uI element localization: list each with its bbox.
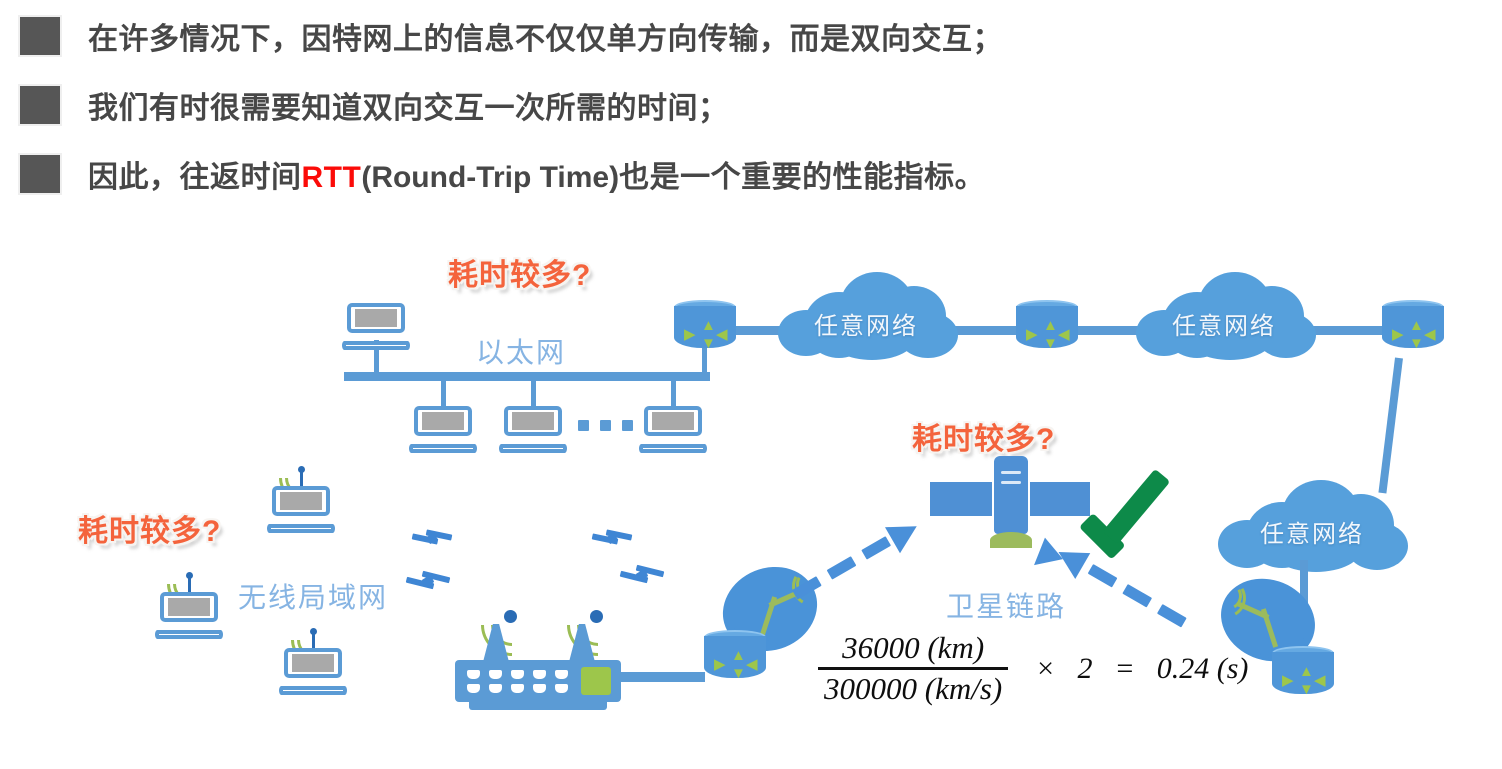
wireless-laptop-2 [152,558,226,642]
hot-label-ethernet: 耗时较多? [448,250,591,294]
laptop-lid [504,406,562,436]
bullet-item-3-label: 因此，往返时间RTT(Round-Trip Time)也是一个重要的性能指标。 [88,152,985,196]
ethernet-drop [671,378,676,408]
formula-denominator: 300000 (km/s) [818,670,1008,707]
antenna-signal-icon [557,588,637,640]
bullet-square-icon [20,86,60,124]
satellite-body [994,456,1028,534]
laptop-screen [280,492,322,510]
router-icon: ▲ ▼ ▶ ◀ [674,300,736,354]
bullet-item-2-label: 我们有时很需要知道双向交互一次所需的时间； [88,83,729,127]
rtt-formula: 36000 (km) 300000 (km/s) × 2 = 0.24 (s) [818,630,1259,707]
slide-canvas: 在许多情况下，因特网上的信息不仅仅单方向传输，而是双向交互； 我们有时很需要知道… [0,0,1502,769]
laptop-screen [168,598,210,616]
bullet-item-2: 我们有时很需要知道双向交互一次所需的时间； [20,83,729,127]
router-arrow-right-icon: ▶ [1026,327,1038,342]
router-arrow-down-icon: ▼ [1043,336,1058,351]
router-arrow-left-icon: ◀ [1058,327,1070,342]
router-arrow-down-icon: ▼ [731,666,746,681]
laptop-icon [284,648,342,695]
bullet-3-prefix: 因此，往返时间 [88,161,302,194]
lightning-bolt-icon [406,570,452,598]
laptop-screen [512,412,554,430]
satellite-solar-panel-right [1030,482,1090,516]
network-diagram: 耗时较多? 以太网 [0,228,1502,769]
laptop-icon [272,486,330,533]
router-arrow-up-icon: ▲ [1409,318,1424,333]
cloud-bottom-right: 任意网络 [1218,478,1414,574]
laptop-screen [422,412,464,430]
satellite-antenna-dish [990,532,1032,548]
router-arrow-left-icon: ◀ [1314,673,1326,688]
rtt-highlight: RTT [302,161,362,194]
bullet-square-icon [20,17,60,55]
cloud-top-left-label: 任意网络 [814,306,918,341]
router-arrow-left-icon: ◀ [716,327,728,342]
laptop-icon [160,592,218,639]
cloud-top-right: 任意网络 [1136,270,1322,362]
router-arrow-down-icon: ▼ [1409,336,1424,351]
link-router-to-bottom-cloud [1378,358,1403,494]
laptop-base [499,444,566,453]
lightning-bolt-icon [592,528,634,554]
label-ethernet: 以太网 [476,331,566,371]
laptop-base [639,444,706,453]
bullet-item-3: 因此，往返时间RTT(Round-Trip Time)也是一个重要的性能指标。 [20,152,985,196]
wireless-laptop-1 [264,452,338,536]
router-icon: ▲ ▼ ▶ ◀ [1382,300,1444,354]
cloud-top-left: 任意网络 [778,270,964,362]
laptop-lid [414,406,472,436]
router-arrow-left-icon: ◀ [1424,327,1436,342]
laptop-icon [414,406,472,453]
router-arrow-down-icon: ▼ [701,336,716,351]
dish-signal-icon [1204,582,1244,622]
laptop-lid [644,406,702,436]
antenna-signal-icon [166,558,212,592]
lightning-bolt-icon [412,528,454,554]
formula-numerator: 36000 (km) [836,630,990,667]
laptop-screen [292,654,334,672]
bullet-3-suffix: 也是一个重要的性能指标。 [619,161,985,194]
antenna-signal-icon [290,614,336,648]
link-router-to-cloud [1078,326,1144,335]
router-arrow-up-icon: ▲ [1299,664,1314,679]
switch-chassis [455,660,621,702]
cloud-bottom-right-label: 任意网络 [1260,514,1364,549]
laptop-icon [644,406,702,453]
satellite-solar-panel-left [930,482,992,516]
ethernet-drop [441,378,446,408]
router-arrow-left-icon: ◀ [746,657,758,672]
router-arrow-up-icon: ▲ [731,648,746,663]
checkmark-icon [1082,466,1186,554]
bullet-square-icon [20,155,60,193]
switch-status-icon [581,667,611,695]
laptop-screen [355,309,397,327]
formula-factor: 2 [1077,652,1092,686]
satellite-icon [930,456,1090,550]
antenna-signal-icon [278,452,324,486]
hot-label-wlan: 耗时较多? [78,506,221,550]
router-arrow-right-icon: ▶ [1282,673,1294,688]
laptop-icon [504,406,562,453]
laptop-lid [347,303,405,333]
cloud-top-right-label: 任意网络 [1172,306,1276,341]
bullet-3-middle: (Round-Trip Time) [361,161,619,194]
ethernet-bus [344,372,710,381]
router-icon: ▲ ▼ ▶ ◀ [1272,646,1334,700]
laptop-lid [284,648,342,678]
laptop-lid [272,486,330,516]
bullet-item-1: 在许多情况下，因特网上的信息不仅仅单方向传输，而是双向交互； [20,14,1003,58]
bullet-item-1-label: 在许多情况下，因特网上的信息不仅仅单方向传输，而是双向交互； [88,14,1003,58]
hot-label-satellite: 耗时较多? [912,414,1055,458]
router-icon: ▲ ▼ ▶ ◀ [704,630,766,684]
router-arrow-up-icon: ▲ [1043,318,1058,333]
laptop-base [409,444,476,453]
formula-times-operator: × [1035,652,1055,686]
router-arrow-right-icon: ▶ [684,327,696,342]
link-switch-to-router [621,672,705,682]
router-icon: ▲ ▼ ▶ ◀ [1016,300,1078,354]
router-arrow-right-icon: ▶ [1392,327,1404,342]
switch-foot [469,702,607,710]
ethernet-drop [531,378,536,408]
laptop-base [155,630,222,639]
laptop-lid [160,592,218,622]
router-arrow-down-icon: ▼ [1299,682,1314,697]
laptop-base [267,524,334,533]
label-wlan: 无线局域网 [238,576,388,616]
wireless-laptop-3 [276,614,350,698]
wireless-switch [455,588,655,708]
laptop-base [279,686,346,695]
laptop-base [342,341,409,350]
laptop-icon [347,303,405,350]
laptop-screen [652,412,694,430]
router-arrow-up-icon: ▲ [701,318,716,333]
ellipsis-dots [578,420,634,432]
formula-equals-operator: = [1114,652,1134,686]
antenna-signal-icon [471,588,551,640]
formula-fraction: 36000 (km) 300000 (km/s) [818,630,1008,707]
router-arrow-right-icon: ▶ [714,657,726,672]
